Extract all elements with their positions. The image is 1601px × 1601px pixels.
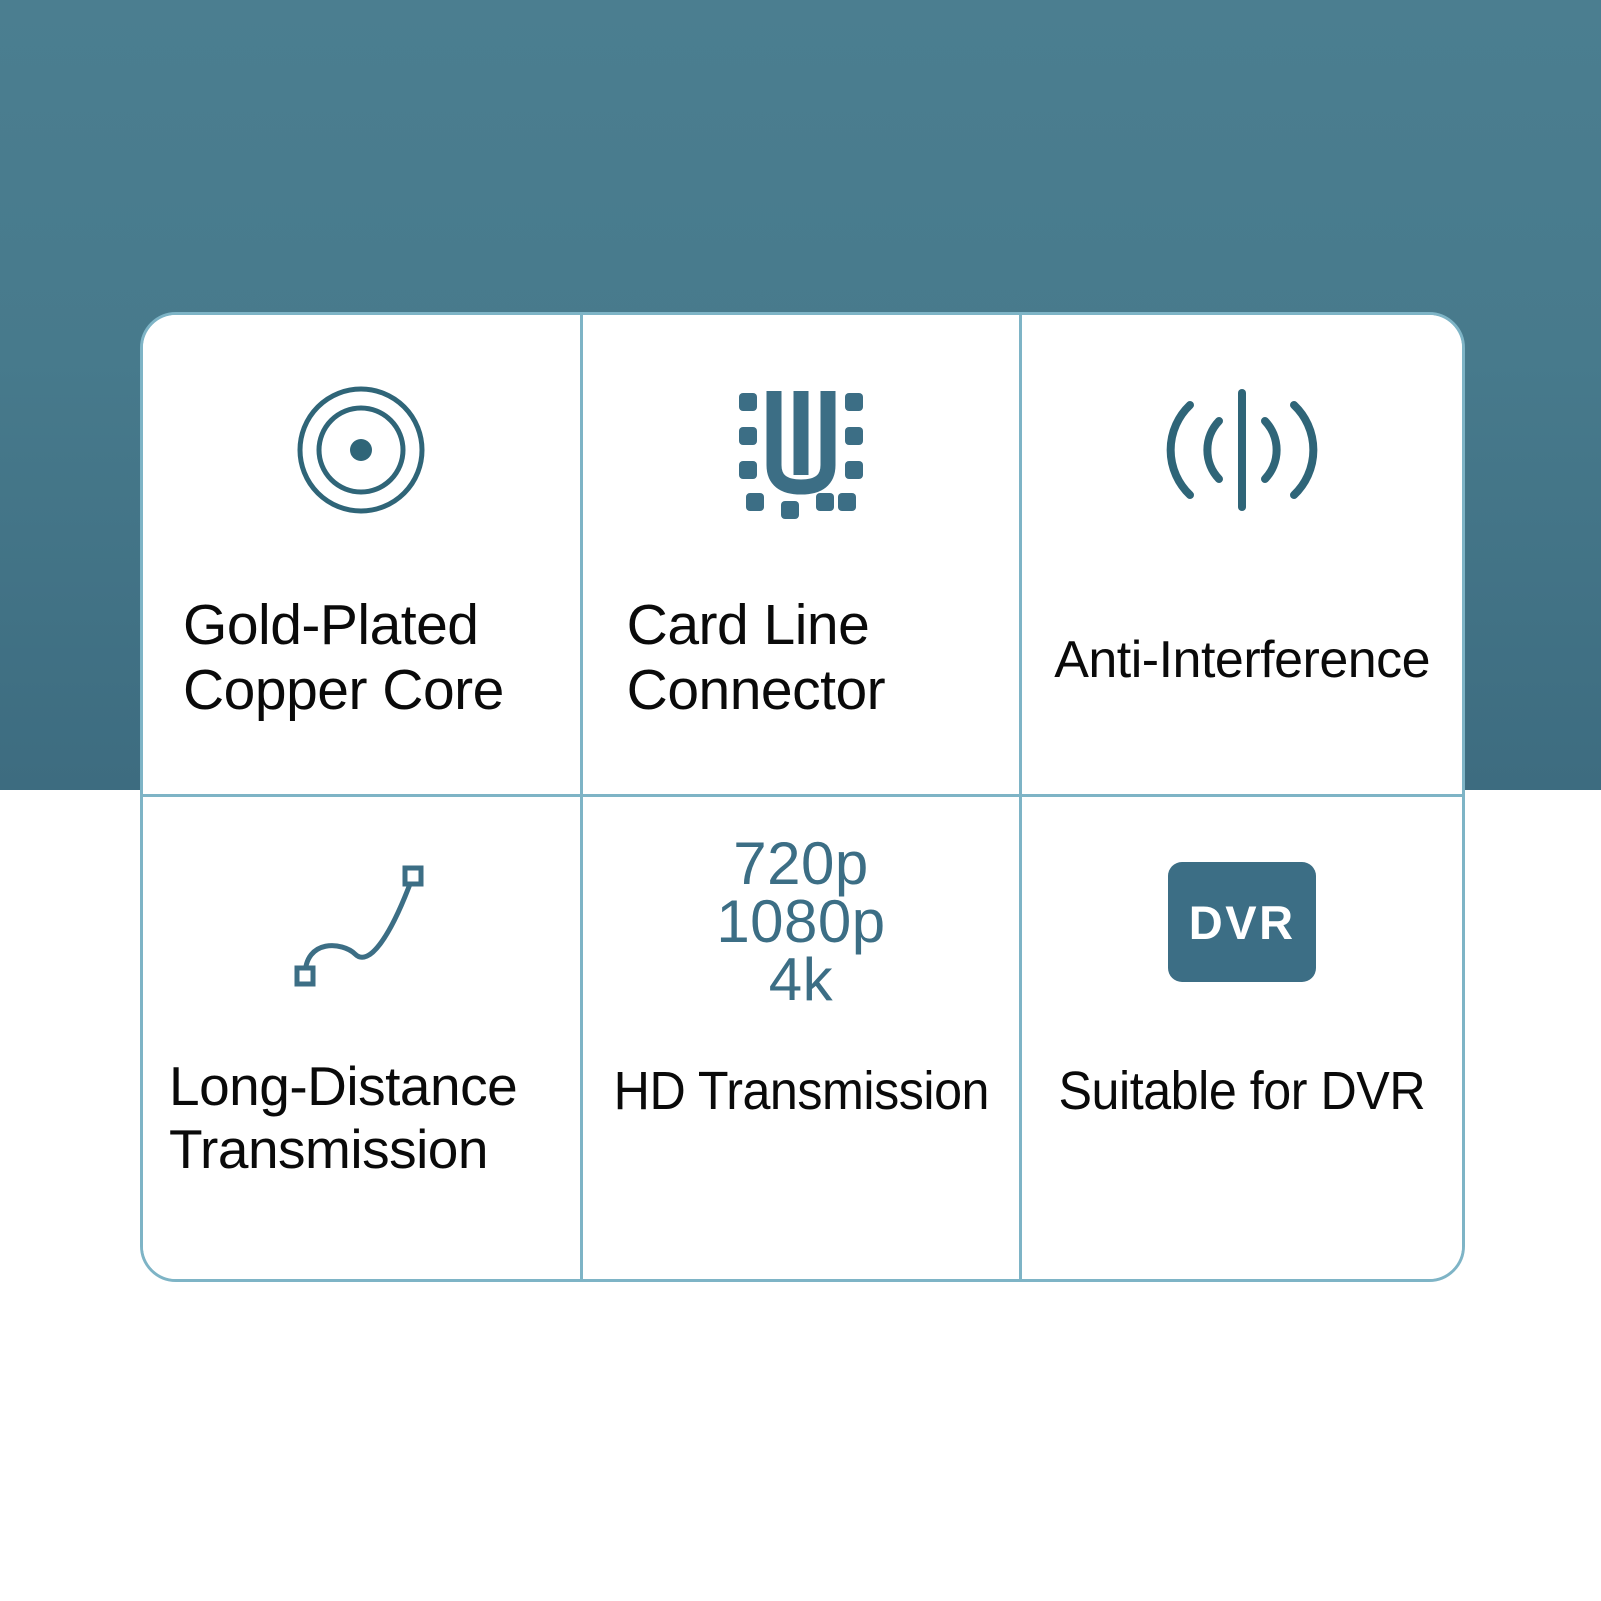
icon-area bbox=[1022, 315, 1462, 585]
signal-waves-icon bbox=[1157, 375, 1327, 525]
dvr-badge-text: DVR bbox=[1189, 895, 1296, 950]
icon-area: DVR bbox=[1022, 797, 1462, 1047]
icon-area: 720p 1080p 4k bbox=[583, 797, 1020, 1047]
feature-label: Suitable for DVR bbox=[1038, 1047, 1447, 1279]
feature-label: Long-Distance Transmission bbox=[143, 1047, 580, 1279]
feature-cell-gold-plated-copper-core: Gold-Plated Copper Core bbox=[143, 315, 583, 797]
feature-cell-hd-transmission: 720p 1080p 4k HD Transmission bbox=[583, 797, 1023, 1279]
feature-cell-anti-interference: Anti-Interference bbox=[1022, 315, 1462, 797]
concentric-circles-icon bbox=[281, 370, 441, 530]
resolution-720p: 720p bbox=[733, 835, 868, 893]
feature-label: HD Transmission bbox=[598, 1047, 1004, 1279]
resolution-text-icon: 720p 1080p 4k bbox=[716, 835, 885, 1010]
icon-area bbox=[143, 315, 580, 585]
feature-cell-long-distance-transmission: Long-Distance Transmission bbox=[143, 797, 583, 1279]
resolution-4k: 4k bbox=[769, 951, 833, 1009]
feature-cell-suitable-for-dvr: DVR Suitable for DVR bbox=[1022, 797, 1462, 1279]
dvr-badge-icon: DVR bbox=[1168, 862, 1316, 982]
icon-area bbox=[143, 797, 580, 1047]
resolution-1080p: 1080p bbox=[716, 893, 885, 951]
connector-pins-icon bbox=[726, 375, 876, 525]
icon-area bbox=[583, 315, 1020, 585]
bezier-curve-icon bbox=[271, 842, 451, 1002]
feature-grid: Gold-Plated Copper Core bbox=[140, 312, 1465, 1282]
feature-label: Gold-Plated Copper Core bbox=[143, 585, 580, 794]
feature-label: Card Line Connector bbox=[583, 585, 1020, 794]
feature-label: Anti-Interference bbox=[1022, 585, 1462, 794]
feature-cell-card-line-connector: Card Line Connector bbox=[583, 315, 1023, 797]
